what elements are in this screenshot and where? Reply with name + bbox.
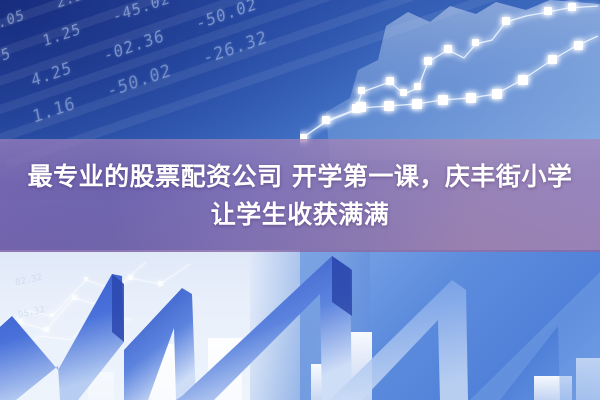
headline-line-1: 最专业的股票配资公司 开学第一课，庆丰街小学 (28, 160, 573, 194)
headline-line-2: 让学生收获满满 (211, 198, 390, 232)
stock-news-banner: 21.36 -45.02 4.36 10.02 -50.02 -02.35 -1… (0, 0, 600, 400)
headline-block: 最专业的股票配资公司 开学第一课，庆丰街小学 让学生收获满满 (0, 139, 600, 252)
blue-arrow-ribbons (0, 250, 600, 400)
glowing-line-chart (300, 0, 600, 150)
